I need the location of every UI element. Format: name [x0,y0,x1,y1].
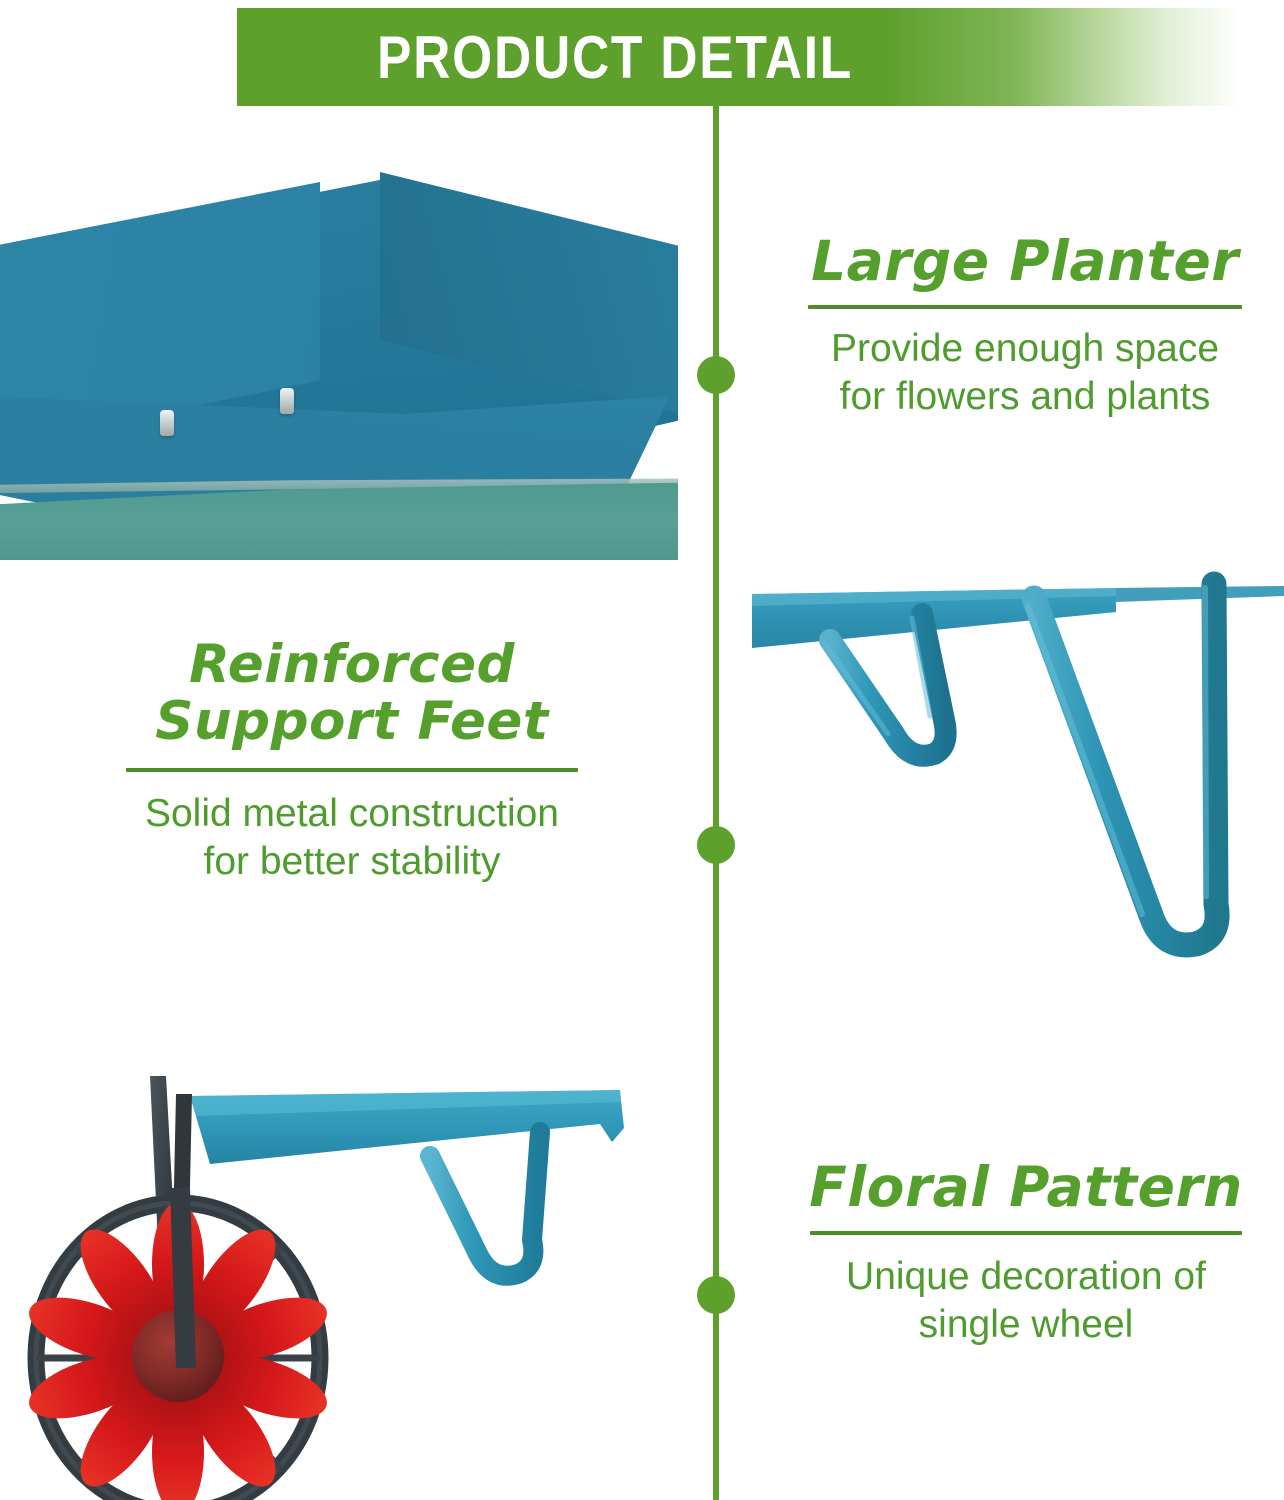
feature-body-floral-pattern: Unique decoration of single wheel [788,1253,1264,1348]
planter-illustration [0,160,678,560]
tray-underside [190,1090,624,1164]
timeline-dot-1 [697,356,735,394]
hairpin-support-feet-photo [744,566,1284,986]
feature-heading-floral-pattern: Floral Pattern [788,1158,1264,1217]
product-detail-banner: PRODUCT DETAIL [237,8,1284,106]
feature-heading-line: Reinforced [106,636,598,693]
page-title: PRODUCT DETAIL [377,23,853,92]
flower-wheel-photo [0,1068,640,1500]
feature-body-line: for better stability [106,838,598,886]
planter-screw-right [280,388,294,414]
feature-body-line: Provide enough space [786,325,1264,373]
support-feet-illustration [744,566,1284,986]
feature-body-line: for flowers and plants [786,373,1264,421]
feature-heading-line: Support Feet [106,693,598,750]
feature-divider-3 [810,1231,1242,1235]
feature-block-large-planter: Large Planter Provide enough space for f… [786,232,1264,421]
feature-body-line: single wheel [788,1301,1264,1349]
feature-body-line: Unique decoration of [788,1253,1264,1301]
planter-screw-left [160,410,174,436]
planter-tray-photo [0,160,678,560]
timeline-dot-2 [697,826,735,864]
flower-wheel-illustration [0,1068,640,1500]
feature-block-support-feet: Reinforced Support Feet Solid metal cons… [106,636,598,886]
timeline-dot-3 [697,1276,735,1314]
feature-divider-1 [808,305,1242,309]
feature-heading-large-planter: Large Planter [786,232,1264,291]
feature-heading-support-feet: Reinforced Support Feet [106,636,598,750]
feature-body-line: Solid metal construction [106,790,598,838]
feature-divider-2 [126,768,578,772]
feature-body-support-feet: Solid metal construction for better stab… [106,790,598,885]
feature-body-large-planter: Provide enough space for flowers and pla… [786,325,1264,420]
support-foot-rear [1034,584,1217,945]
wheel-photo-support-foot [430,1132,540,1276]
feature-block-floral-pattern: Floral Pattern Unique decoration of sing… [788,1158,1264,1349]
